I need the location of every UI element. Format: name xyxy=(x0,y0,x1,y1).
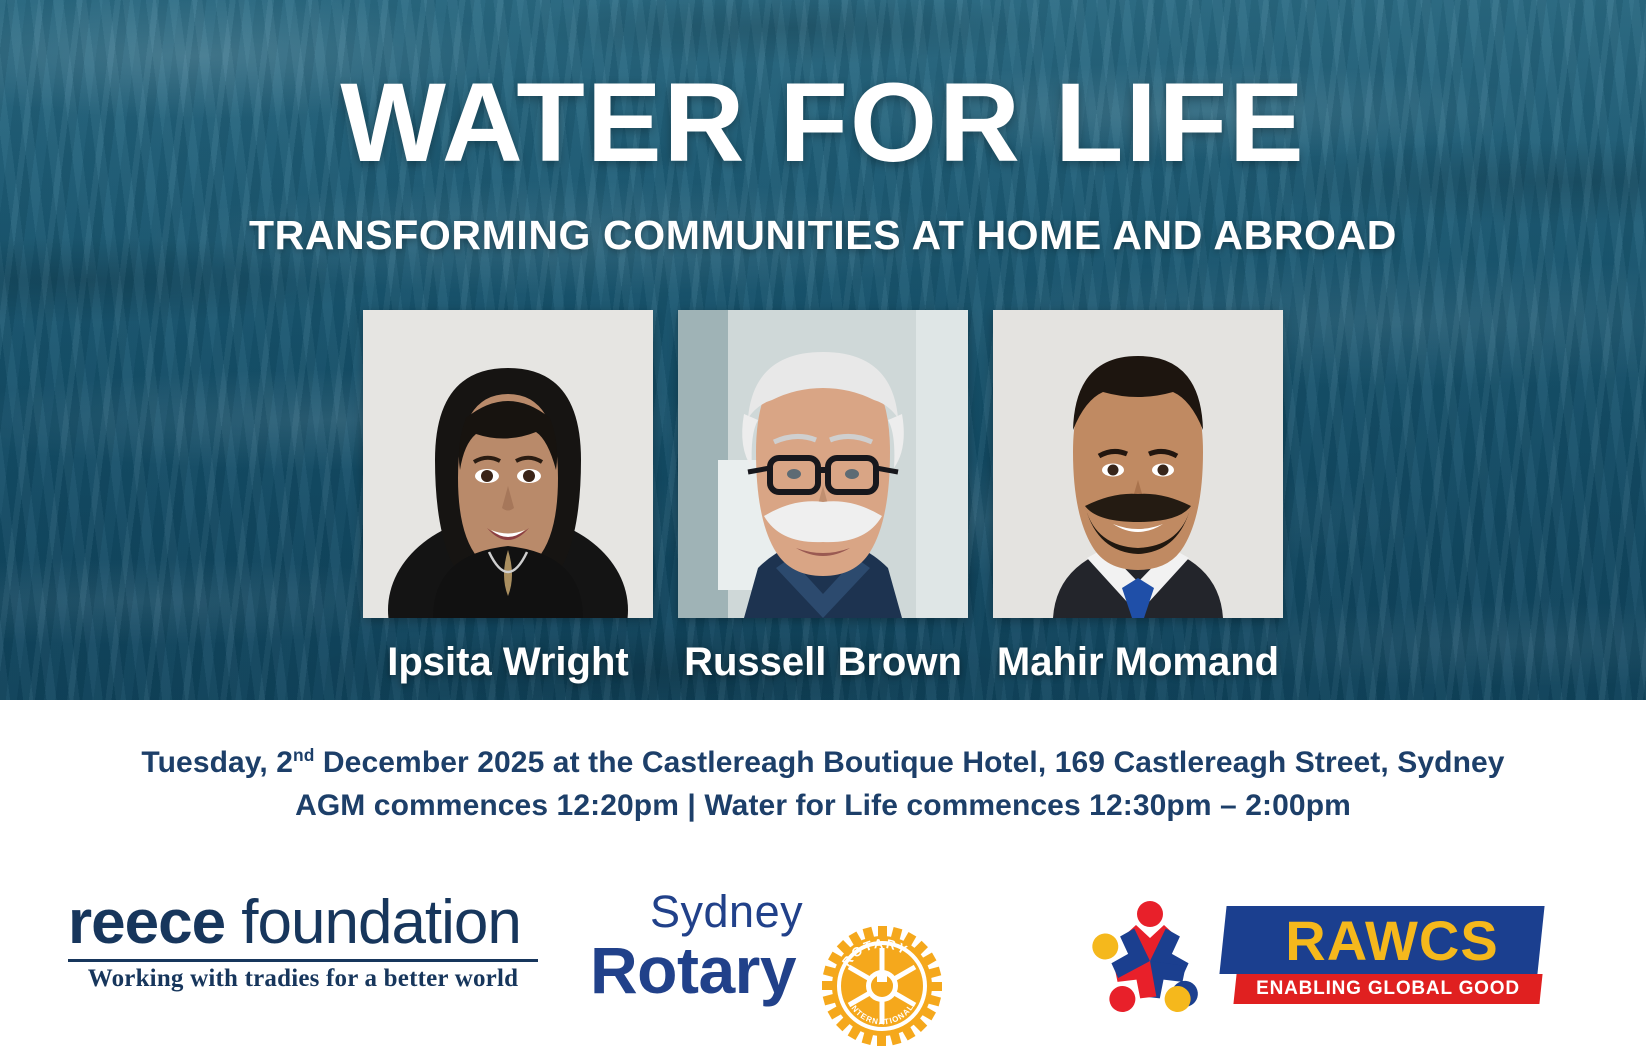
speaker-card: Ipsita Wright xyxy=(363,310,653,685)
sponsor-logos-row: reece foundation Working with tradies fo… xyxy=(0,880,1646,1040)
reece-foundation-wordmark: reece foundation xyxy=(68,892,538,954)
page-title: WATER FOR LIFE xyxy=(0,66,1646,180)
speaker-name: Mahir Momand xyxy=(993,640,1283,685)
rawcs-people-circle-icon xyxy=(1075,890,1225,1037)
rawcs-logo[interactable]: RAWCS ENABLING GLOBAL GOOD xyxy=(1075,886,1575,1031)
event-flyer: WATER FOR LIFE TRANSFORMING COMMUNITIES … xyxy=(0,0,1646,1064)
speaker-name: Russell Brown xyxy=(678,640,968,685)
rawcs-tagline: ENABLING GLOBAL GOOD xyxy=(1235,974,1541,1004)
speaker-photo-ipsita-wright xyxy=(363,310,653,618)
speaker-name: Ipsita Wright xyxy=(363,640,653,685)
page-subtitle: TRANSFORMING COMMUNITIES AT HOME AND ABR… xyxy=(0,212,1646,259)
event-date-prefix: Tuesday, 2 xyxy=(141,746,293,779)
rotary-wordmark: Rotary xyxy=(590,932,796,1008)
reece-tagline: Working with tradies for a better world xyxy=(68,965,538,993)
reece-foundation-logo[interactable]: reece foundation Working with tradies fo… xyxy=(68,892,538,993)
sydney-rotary-logo[interactable]: Sydney Rotary xyxy=(590,886,1000,1026)
speaker-photo-mahir-momand xyxy=(993,310,1283,618)
event-details-line-1: Tuesday, 2nd December 2025 at the Castle… xyxy=(0,742,1646,785)
hero-banner: WATER FOR LIFE TRANSFORMING COMMUNITIES … xyxy=(0,0,1646,700)
event-details: Tuesday, 2nd December 2025 at the Castle… xyxy=(0,742,1646,827)
reece-bold-text: reece xyxy=(68,888,225,957)
speaker-photo-russell-brown xyxy=(678,310,968,618)
reece-divider-rule xyxy=(68,959,538,962)
event-venue: December 2025 at the Castlereagh Boutiqu… xyxy=(314,746,1504,779)
rotary-sydney-text: Sydney xyxy=(650,886,803,938)
rawcs-name: RAWCS xyxy=(1247,908,1537,972)
foundation-light-text: foundation xyxy=(225,888,521,957)
event-details-line-2: AGM commences 12:20pm | Water for Life c… xyxy=(0,785,1646,828)
speakers-row: Ipsita Wright xyxy=(0,310,1646,685)
ordinal-suffix: nd xyxy=(293,745,314,765)
speaker-card: Mahir Momand xyxy=(993,310,1283,685)
speaker-card: Russell Brown xyxy=(678,310,968,685)
rotary-wheel-icon: ROTARY INTERNATIONAL xyxy=(822,926,942,1051)
